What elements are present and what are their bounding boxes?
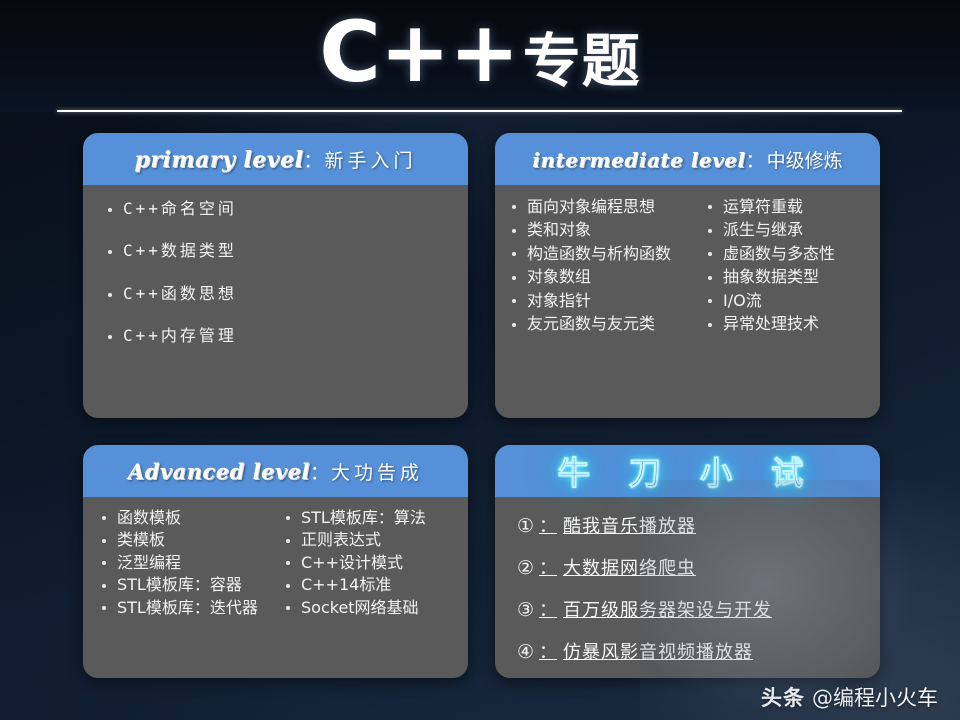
item-number: ③: [517, 599, 534, 621]
item-number: ②: [517, 557, 534, 579]
intermediate-list-right: 运算符重载 派生与继承 虚函数与多态性 抽象数据类型 I/O流 异常处理技术: [697, 197, 876, 335]
list-item: I/O流: [697, 291, 876, 311]
item-separator: ：: [539, 596, 557, 622]
list-item: 对象数组: [501, 267, 697, 287]
list-item: 友元函数与友元类: [501, 314, 697, 334]
intermediate-list-left: 面向对象编程思想 类和对象 构造函数与析构函数 对象数组 对象指针 友元函数与友…: [501, 197, 697, 335]
panel-primary-header: primary level ： 新手入门: [83, 133, 468, 185]
list-item: 虚函数与多态性: [697, 244, 876, 264]
list-item: 面向对象编程思想: [501, 197, 697, 217]
item-label[interactable]: 仿暴风影音视频播放器: [563, 638, 753, 664]
list-item: C++设计模式: [275, 553, 464, 573]
panel-practice: 牛 刀 小 试 ① ： 酷我音乐播放器 ② ： 大数据网络爬虫 ③: [495, 445, 880, 678]
advanced-list-right: STL模板库：算法 正则表达式 C++设计模式 C++14标准 Socket网络…: [275, 508, 464, 618]
item-number: ④: [517, 641, 534, 663]
list-item: C++函数思想: [97, 284, 458, 304]
panel-advanced-header: Advanced level ： 大功告成: [83, 445, 468, 497]
list-item[interactable]: ② ： 大数据网络爬虫: [517, 554, 870, 580]
panel-intermediate-header: intermediate level ： 中级修炼: [495, 133, 880, 185]
list-item: 构造函数与析构函数: [501, 244, 697, 264]
list-item: 泛型编程: [91, 553, 275, 573]
list-item: 函数模板: [91, 508, 275, 528]
item-separator: ：: [539, 512, 557, 538]
primary-list: C++命名空间 C++数据类型 C++函数思想 C++内存管理: [97, 199, 458, 347]
panel-practice-header: 牛 刀 小 试: [495, 445, 880, 497]
panel-advanced-level: Advanced level ： 大功告成 函数模板 类模板 泛型编程 STL模…: [83, 445, 468, 678]
list-item: C++14标准: [275, 575, 464, 595]
panel-intermediate-header-colon: ：: [746, 146, 765, 173]
list-item[interactable]: ④ ： 仿暴风影音视频播放器: [517, 638, 870, 664]
list-item: Socket网络基础: [275, 598, 464, 618]
panel-practice-body: ① ： 酷我音乐播放器 ② ： 大数据网络爬虫 ③ ： 百万级服务器架设与开发: [495, 497, 880, 678]
watermark-handle: @编程小火车: [812, 682, 938, 712]
title-main: C++: [319, 10, 518, 94]
panel-primary-level: primary level ： 新手入门 C++命名空间 C++数据类型 C++…: [83, 133, 468, 418]
page-title: C++ 专题: [0, 2, 960, 102]
panel-advanced-header-cn: 大功告成: [331, 458, 423, 485]
list-item: STL模板库：算法: [275, 508, 464, 528]
list-item: 正则表达式: [275, 530, 464, 550]
list-item: C++命名空间: [97, 199, 458, 219]
panel-intermediate-header-en: intermediate level: [532, 148, 745, 172]
panel-intermediate-level: intermediate level ： 中级修炼 面向对象编程思想 类和对象 …: [495, 133, 880, 418]
panel-advanced-body: 函数模板 类模板 泛型编程 STL模板库：容器 STL模板库：迭代器 STL模板…: [83, 497, 468, 628]
advanced-list-left: 函数模板 类模板 泛型编程 STL模板库：容器 STL模板库：迭代器: [91, 508, 275, 618]
item-label[interactable]: 酷我音乐播放器: [563, 512, 696, 538]
panel-primary-header-cn: 新手入门: [324, 146, 416, 173]
item-number: ①: [517, 515, 534, 537]
list-item: 运算符重载: [697, 197, 876, 217]
list-item: 异常处理技术: [697, 314, 876, 334]
panel-primary-header-en: primary level: [135, 147, 304, 173]
list-item[interactable]: ③ ： 百万级服务器架设与开发: [517, 596, 870, 622]
slide-root: C++ 专题 primary level ： 新手入门 C++命名空间 C+: [0, 0, 960, 720]
title-divider: [57, 110, 902, 112]
list-item: 派生与继承: [697, 220, 876, 240]
list-item: 对象指针: [501, 291, 697, 311]
item-separator: ：: [539, 638, 557, 664]
list-item: STL模板库：迭代器: [91, 598, 275, 618]
practice-list: ① ： 酷我音乐播放器 ② ： 大数据网络爬虫 ③ ： 百万级服务器架设与开发: [517, 512, 870, 664]
item-separator: ：: [539, 554, 557, 580]
list-item: 抽象数据类型: [697, 267, 876, 287]
item-label[interactable]: 大数据网络爬虫: [563, 554, 696, 580]
panel-primary-body: C++命名空间 C++数据类型 C++函数思想 C++内存管理: [83, 185, 468, 379]
list-item: C++内存管理: [97, 326, 458, 346]
panel-intermediate-header-cn: 中级修炼: [767, 146, 843, 173]
panel-intermediate-body: 面向对象编程思想 类和对象 构造函数与析构函数 对象数组 对象指针 友元函数与友…: [495, 185, 880, 346]
panels-grid: primary level ： 新手入门 C++命名空间 C++数据类型 C++…: [83, 133, 880, 678]
list-item: C++数据类型: [97, 241, 458, 261]
list-item: 类模板: [91, 530, 275, 550]
list-item: 类和对象: [501, 220, 697, 240]
watermark-brand: 头条: [761, 682, 805, 712]
panel-advanced-header-en: Advanced level: [128, 459, 310, 484]
list-item[interactable]: ① ： 酷我音乐播放器: [517, 512, 870, 538]
panel-practice-header-title: 牛 刀 小 试: [558, 448, 817, 494]
title-sub: 专题: [523, 32, 641, 90]
panel-primary-header-colon: ：: [303, 146, 322, 173]
list-item: STL模板库：容器: [91, 575, 275, 595]
panel-advanced-header-colon: ：: [310, 458, 329, 485]
item-label[interactable]: 百万级服务器架设与开发: [563, 596, 772, 622]
watermark: 头条 @编程小火车: [761, 682, 938, 712]
